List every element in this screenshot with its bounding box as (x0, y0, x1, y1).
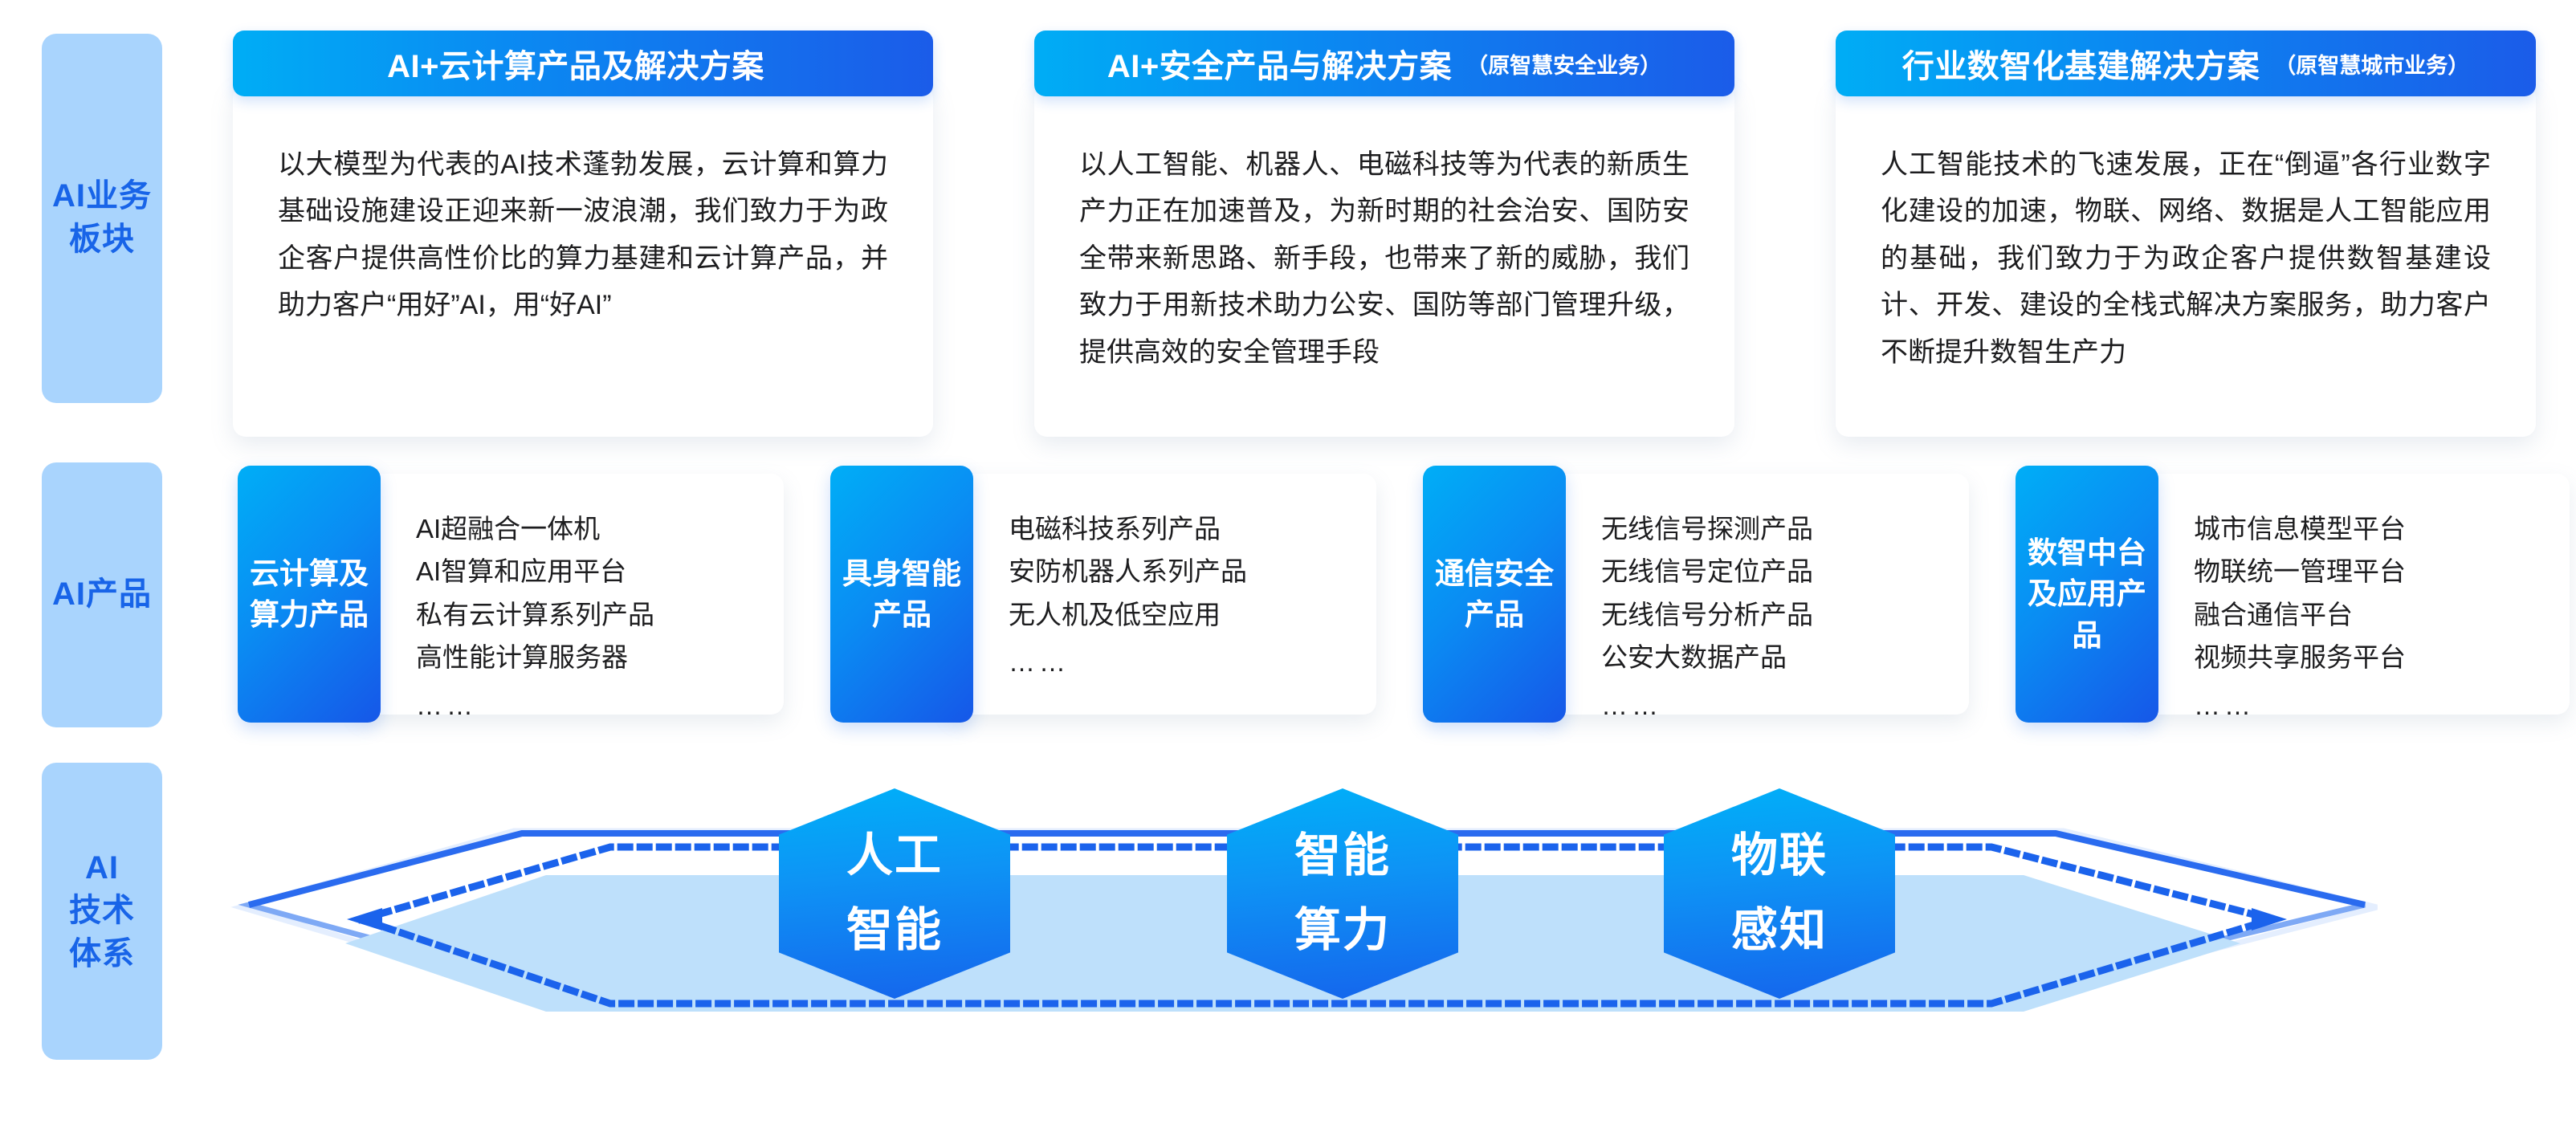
tech-hexagon-line1: 人工 (846, 830, 943, 882)
row-label-ai-product: AI产品 (42, 462, 162, 727)
business-card-body: 人工智能技术的飞速发展，正在“倒逼”各行业数字化建设的加速，物联、网络、数据是人… (1836, 85, 2536, 437)
business-card-cloud: AI+云计算产品及解决方案 以大模型为代表的AI技术蓬勃发展，云计算和算力基础设… (233, 31, 933, 437)
business-card-subtitle: （原智慧安全业务） (1466, 48, 1661, 79)
product-list-card: 电磁科技系列产品 安防机器人系列产品 无人机及低空应用 …… (951, 474, 1376, 715)
row-label-business-text: AI业务板块 (52, 175, 152, 261)
tech-hexagon-line2: 算力 (1294, 905, 1391, 957)
list-item: 视频共享服务平台 (2194, 636, 2570, 678)
product-group-cloud: 云计算及算力产品 AI超融合一体机 AI智算和应用平台 私有云计算系列产品 高性… (238, 466, 784, 723)
list-item: 电磁科技系列产品 (1009, 507, 1376, 550)
business-card-title: 行业数智化基建解决方案 (1902, 40, 2260, 87)
business-card-subtitle: （原智慧城市业务） (2274, 48, 2469, 79)
business-card-description: 人工智能技术的飞速发展，正在“倒逼”各行业数字化建设的加速，物联、网络、数据是人… (1881, 141, 2491, 376)
list-item: 安防机器人系列产品 (1009, 550, 1376, 593)
row-label-product-text: AI产品 (52, 573, 152, 617)
product-list-card: AI超融合一体机 AI智算和应用平台 私有云计算系列产品 高性能计算服务器 …… (358, 474, 784, 715)
business-card-industry: 行业数智化基建解决方案 （原智慧城市业务） 人工智能技术的飞速发展，正在“倒逼”… (1836, 31, 2536, 437)
product-group-comm-security: 通信安全产品 无线信号探测产品 无线信号定位产品 无线信号分析产品 公安大数据产… (1423, 466, 1969, 723)
tech-hexagon-line2: 智能 (846, 905, 943, 957)
list-item: 私有云计算系列产品 (416, 593, 784, 636)
business-card-header: AI+安全产品与解决方案 （原智慧安全业务） (1034, 31, 1734, 96)
list-more-ellipsis: …… (416, 684, 784, 727)
list-more-ellipsis: …… (1009, 641, 1376, 683)
product-group-tag: 云计算及算力产品 (238, 466, 381, 723)
business-card-security: AI+安全产品与解决方案 （原智慧安全业务） 以人工智能、机器人、电磁科技等为代… (1034, 31, 1734, 437)
list-item: AI智算和应用平台 (416, 550, 784, 593)
product-group-data-platform: 数智中台及应用产品 城市信息模型平台 物联统一管理平台 融合通信平台 视频共享服… (2016, 466, 2570, 723)
tech-hexagon-line1: 智能 (1294, 830, 1391, 882)
list-item: AI超融合一体机 (416, 507, 784, 550)
diagram-canvas: AI业务板块 AI产品 AI技术体系 AI+云计算产品及解决方案 以大模型为代表… (0, 0, 2576, 1124)
list-more-ellipsis: …… (1601, 684, 1969, 727)
product-list: 城市信息模型平台 物联统一管理平台 融合通信平台 视频共享服务平台 …… (2194, 507, 2570, 727)
list-item: 物联统一管理平台 (2194, 550, 2570, 593)
row-label-ai-business: AI业务板块 (42, 34, 162, 403)
list-more-ellipsis: …… (2194, 684, 2570, 727)
product-list: 无线信号探测产品 无线信号定位产品 无线信号分析产品 公安大数据产品 …… (1601, 507, 1969, 727)
business-card-description: 以大模型为代表的AI技术蓬勃发展，云计算和算力基础设施建设正迎来新一波浪潮，我们… (278, 141, 888, 329)
business-card-title: AI+云计算产品及解决方案 (387, 40, 764, 87)
product-list-card: 无线信号探测产品 无线信号定位产品 无线信号分析产品 公安大数据产品 …… (1543, 474, 1969, 715)
list-item: 公安大数据产品 (1601, 636, 1969, 678)
tech-hexagon-line2: 感知 (1731, 905, 1828, 957)
product-group-tag: 通信安全产品 (1423, 466, 1566, 723)
list-item: 城市信息模型平台 (2194, 507, 2570, 550)
business-card-description: 以人工智能、机器人、电磁科技等为代表的新质生产力正在加速普及，为新时期的社会治安… (1079, 141, 1689, 376)
business-card-body: 以大模型为代表的AI技术蓬勃发展，云计算和算力基础设施建设正迎来新一波浪潮，我们… (233, 85, 933, 437)
product-list-card: 城市信息模型平台 物联统一管理平台 融合通信平台 视频共享服务平台 …… (2136, 474, 2570, 715)
list-item: 无人机及低空应用 (1009, 593, 1376, 636)
list-item: 无线信号分析产品 (1601, 593, 1969, 636)
business-card-body: 以人工智能、机器人、电磁科技等为代表的新质生产力正在加速普及，为新时期的社会治安… (1034, 85, 1734, 437)
product-group-tag: 具身智能产品 (830, 466, 973, 723)
list-item: 融合通信平台 (2194, 593, 2570, 636)
arrow-left-icon (347, 908, 382, 931)
business-card-header: AI+云计算产品及解决方案 (233, 31, 933, 96)
product-list: AI超融合一体机 AI智算和应用平台 私有云计算系列产品 高性能计算服务器 …… (416, 507, 784, 727)
product-group-embodied-ai: 具身智能产品 电磁科技系列产品 安防机器人系列产品 无人机及低空应用 …… (830, 466, 1376, 723)
business-card-title: AI+安全产品与解决方案 (1107, 40, 1452, 87)
list-item: 无线信号定位产品 (1601, 550, 1969, 593)
product-list: 电磁科技系列产品 安防机器人系列产品 无人机及低空应用 …… (1009, 507, 1376, 684)
product-group-tag: 数智中台及应用产品 (2016, 466, 2158, 723)
business-card-header: 行业数智化基建解决方案 （原智慧城市业务） (1836, 31, 2536, 96)
tech-hexagon-line1: 物联 (1731, 830, 1828, 882)
list-item: 高性能计算服务器 (416, 636, 784, 678)
tech-platform: 人工 智能 智能 算力 物联 感知 (0, 747, 2576, 1124)
list-item: 无线信号探测产品 (1601, 507, 1969, 550)
